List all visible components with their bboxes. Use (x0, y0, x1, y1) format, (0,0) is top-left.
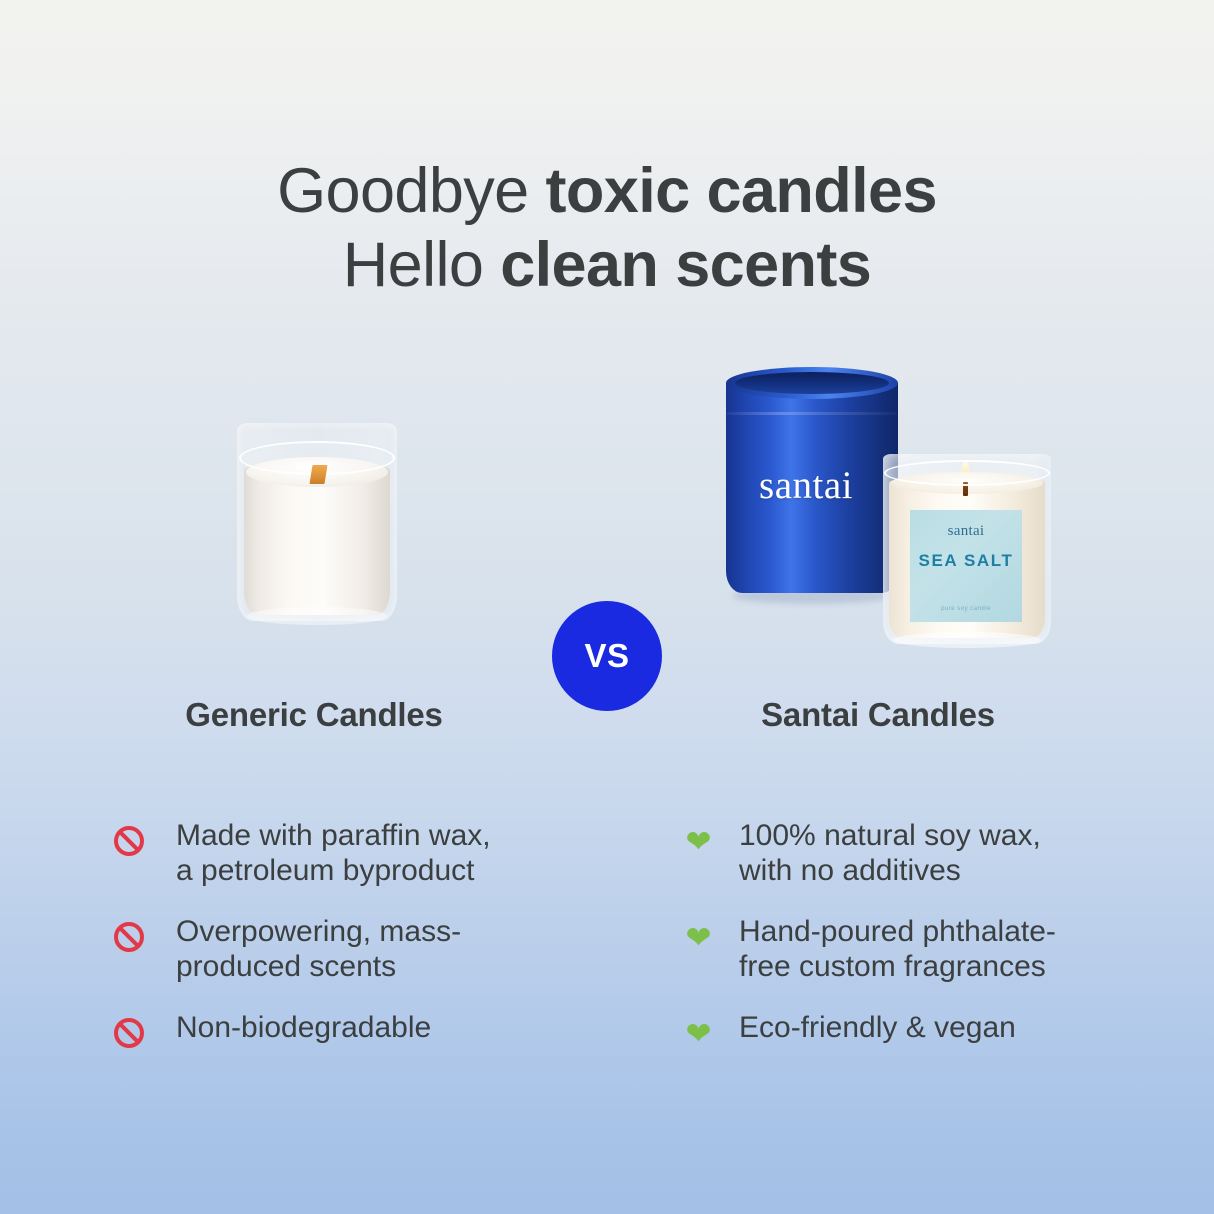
tube-brand-logo: santai (726, 463, 886, 508)
headline-line-1: Goodbye toxic candles (0, 154, 1214, 228)
feature-text: Overpowering, mass- produced scents (176, 914, 461, 984)
santai-candle-jar: santai SEA SALT pure soy candle (883, 454, 1051, 646)
heart-icon: ❤ (682, 920, 716, 954)
feature-text: Non-biodegradable (176, 1010, 431, 1045)
heart-icon: ❤ (682, 824, 716, 858)
list-item: ❤ Eco-friendly & vegan (682, 1010, 1122, 1050)
headline-line-2: Hello clean scents (0, 228, 1214, 302)
generic-candle-image (237, 423, 397, 623)
feature-text: Hand-poured phthalate- free custom fragr… (739, 914, 1056, 984)
jar-label-brand: santai (910, 523, 1022, 540)
santai-packaging-tube: santai (726, 367, 898, 600)
tube-opening (735, 372, 889, 394)
feature-text: Made with paraffin wax, a petroleum bypr… (176, 818, 491, 888)
column-label-generic: Generic Candles (104, 696, 524, 734)
tube-seam (727, 412, 897, 415)
feature-text: Eco-friendly & vegan (739, 1010, 1016, 1045)
feature-list-generic: Made with paraffin wax, a petroleum bypr… (112, 818, 582, 1076)
jar-label-scent: SEA SALT (910, 550, 1022, 571)
feature-text: 100% natural soy wax, with no additives (739, 818, 1041, 888)
feature-list-santai: ❤ 100% natural soy wax, with no additive… (682, 818, 1122, 1076)
prohibited-icon (112, 1016, 146, 1050)
page-title: Goodbye toxic candles Hello clean scents (0, 154, 1214, 302)
generic-candle-base (247, 607, 387, 625)
list-item: ❤ 100% natural soy wax, with no additive… (682, 818, 1122, 888)
jar-rim (884, 460, 1050, 486)
column-labels: Generic Candles Santai Candles (0, 696, 1214, 744)
generic-candle-wooden-wick (309, 465, 327, 484)
generic-candle-wax (244, 467, 390, 615)
list-item: ❤ Hand-poured phthalate- free custom fra… (682, 914, 1122, 984)
headline-line-1-bold: toxic candles (546, 156, 937, 226)
prohibited-icon (112, 824, 146, 858)
prohibited-icon (112, 920, 146, 954)
headline-line-2-light: Hello (343, 230, 500, 300)
list-item: Non-biodegradable (112, 1010, 582, 1050)
product-comparison-row: VS santai santai SEA SALT (0, 350, 1214, 680)
santai-product-image: santai santai SEA SALT pure soy candle (718, 362, 1063, 662)
heart-icon: ❤ (682, 1016, 716, 1050)
jar-label-fine-print: pure soy candle (910, 606, 1022, 612)
list-item: Made with paraffin wax, a petroleum bypr… (112, 818, 582, 888)
vs-badge-label: VS (584, 637, 629, 675)
column-label-santai: Santai Candles (668, 696, 1088, 734)
list-item: Overpowering, mass- produced scents (112, 914, 582, 984)
headline-line-1-light: Goodbye (277, 156, 545, 226)
jar-base (893, 632, 1041, 648)
vs-badge: VS (552, 601, 662, 711)
promo-poster: Goodbye toxic candles Hello clean scents… (0, 0, 1214, 1214)
headline-line-2-bold: clean scents (500, 230, 871, 300)
jar-label: santai SEA SALT pure soy candle (910, 510, 1022, 622)
